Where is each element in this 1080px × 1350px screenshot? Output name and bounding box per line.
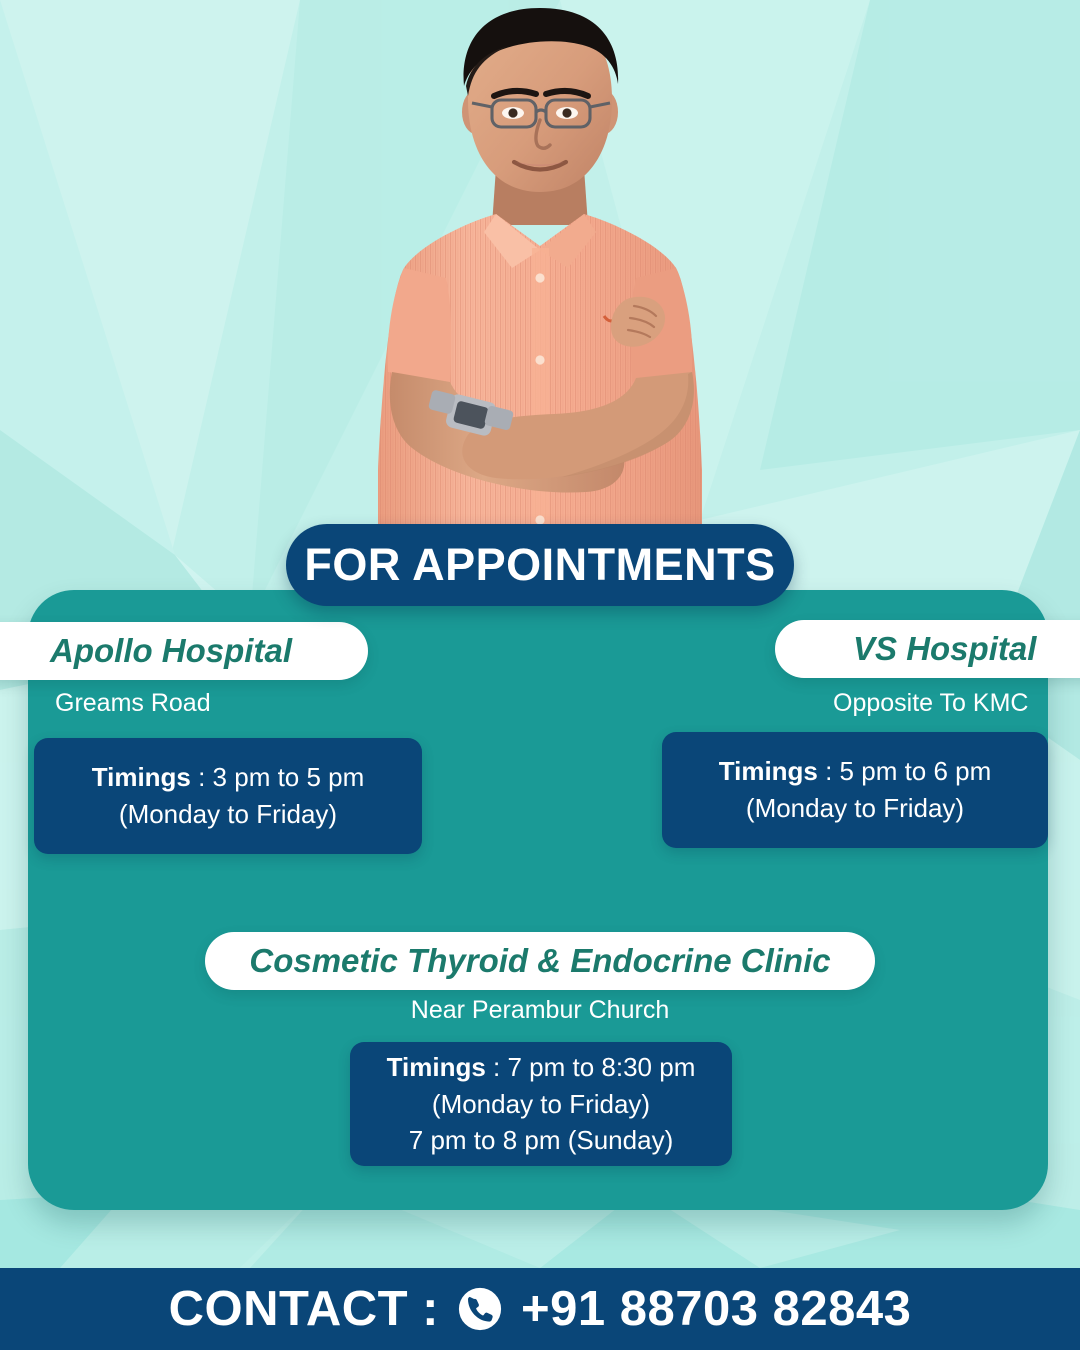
timing-label: Timings (92, 762, 191, 792)
location-name-clinic: Cosmetic Thyroid & Endocrine Clinic (249, 942, 830, 980)
contact-label: CONTACT : (169, 1281, 439, 1337)
timing-label: Timings (387, 1052, 486, 1082)
contact-bar: CONTACT : +91 88703 82843 (0, 1268, 1080, 1350)
timing-value: (Monday to Friday) (119, 799, 337, 829)
phone-icon (457, 1286, 503, 1332)
location-name-pill-vs: VS Hospital (775, 620, 1080, 678)
timing-value: : 3 pm to 5 pm (191, 762, 364, 792)
timing-box-clinic: Timings : 7 pm to 8:30 pm (Monday to Fri… (350, 1042, 732, 1166)
timing-line: Timings : 7 pm to 8:30 pm (387, 1049, 696, 1086)
appointment-poster: FOR APPOINTMENTS Apollo Hospital Greams … (0, 0, 1080, 1350)
doctor-photo (300, 0, 780, 560)
timing-line: 7 pm to 8 pm (Sunday) (409, 1122, 673, 1159)
location-area-clinic: Near Perambur Church (0, 996, 1080, 1025)
location-name-pill-clinic: Cosmetic Thyroid & Endocrine Clinic (205, 932, 875, 990)
timing-value: 7 pm to 8 pm (Sunday) (409, 1125, 673, 1155)
location-name-vs: VS Hospital (853, 630, 1036, 668)
location-name-apollo: Apollo Hospital (50, 632, 292, 670)
location-name-pill-apollo: Apollo Hospital (0, 622, 368, 680)
for-appointments-heading: FOR APPOINTMENTS (286, 524, 794, 606)
timing-box-vs: Timings : 5 pm to 6 pm (Monday to Friday… (662, 732, 1048, 848)
timing-value: (Monday to Friday) (432, 1089, 650, 1119)
contact-number: +91 88703 82843 (521, 1281, 911, 1337)
location-area-vs: Opposite To KMC (833, 689, 1028, 718)
for-appointments-label: FOR APPOINTMENTS (304, 539, 775, 591)
timing-line: (Monday to Friday) (746, 790, 964, 827)
timing-line: (Monday to Friday) (432, 1086, 650, 1123)
timing-line: (Monday to Friday) (119, 796, 337, 833)
timing-value: : 7 pm to 8:30 pm (486, 1052, 696, 1082)
timing-value: : 5 pm to 6 pm (818, 756, 991, 786)
timing-line: Timings : 3 pm to 5 pm (92, 759, 365, 796)
timing-label: Timings (719, 756, 818, 786)
timing-line: Timings : 5 pm to 6 pm (719, 753, 992, 790)
timing-box-apollo: Timings : 3 pm to 5 pm (Monday to Friday… (34, 738, 422, 854)
location-area-apollo: Greams Road (55, 689, 211, 718)
timing-value: (Monday to Friday) (746, 793, 964, 823)
